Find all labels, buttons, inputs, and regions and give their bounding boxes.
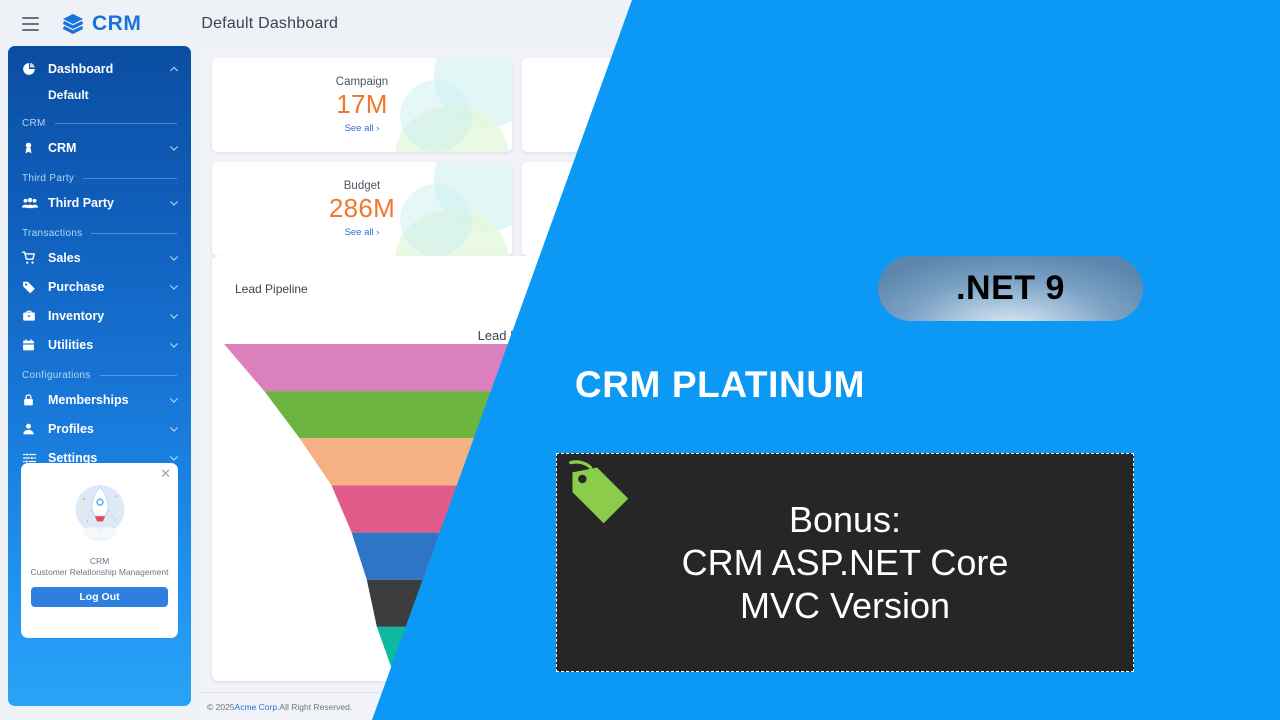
kpi-card-hidden-2[interactable] — [522, 162, 822, 256]
sidebar-promo-card: ✕ CRM Customer Relationship Management L… — [21, 463, 178, 638]
promo-title: CRM — [90, 556, 109, 566]
user-badge-icon — [22, 141, 41, 155]
close-icon[interactable]: ✕ — [160, 467, 171, 480]
kpi-card-hidden-1[interactable] — [522, 58, 822, 152]
sidebar-item-label: Memberships — [48, 393, 169, 407]
kpi-label: Budget — [329, 180, 395, 192]
funnel-segment[interactable] — [377, 627, 441, 674]
sidebar-subitem-label: Default — [48, 88, 89, 102]
kpi-card-budget[interactable]: Budget 286M See all › — [212, 162, 512, 256]
hamburger-icon[interactable] — [17, 11, 43, 37]
person-icon — [22, 422, 41, 436]
sidebar-item-utilities[interactable]: Utilities — [8, 330, 191, 359]
sidebar-item-memberships[interactable]: Memberships — [8, 385, 191, 414]
promo-subtitle: Customer Relationship Management — [31, 567, 169, 578]
chevron-up-icon — [169, 64, 179, 74]
chevron-down-icon — [169, 395, 179, 405]
sidebar-item-label: Sales — [48, 251, 169, 265]
kpi-label: Campaign — [336, 76, 388, 88]
crm-application: CRM Default Dashboard Dashboard Default … — [0, 0, 1280, 720]
chevron-down-icon — [169, 143, 179, 153]
sidebar-item-crm[interactable]: CRM — [8, 133, 191, 162]
funnel-chart[interactable] — [212, 344, 822, 674]
kpi-value: 17M — [336, 89, 388, 120]
sidebar: Dashboard Default CRM CRM — [8, 46, 191, 706]
brand[interactable]: CRM — [61, 12, 141, 36]
divider — [83, 178, 177, 179]
sidebar-item-dashboard[interactable]: Dashboard — [8, 54, 191, 83]
sidebar-item-sales[interactable]: Sales — [8, 243, 191, 272]
chevron-down-icon — [169, 253, 179, 263]
funnel-segment[interactable] — [332, 485, 487, 532]
footer-suffix: All Right Reserved. — [279, 702, 352, 712]
sidebar-section-label: Configurations — [22, 370, 91, 381]
chevron-down-icon — [169, 282, 179, 292]
kpi-column-2 — [522, 58, 822, 256]
funnel-segment[interactable] — [264, 391, 553, 438]
sidebar-section-transactions: Transactions — [8, 228, 191, 239]
divider — [55, 123, 177, 124]
chart-title: Lead Pipeline — [212, 328, 822, 343]
funnel-segment[interactable] — [352, 533, 467, 580]
footer-company-link[interactable]: Acme Corp. — [235, 702, 280, 712]
sidebar-item-third-party[interactable]: Third Party — [8, 188, 191, 217]
funnel-segment[interactable] — [300, 438, 519, 485]
sidebar-section-label: Third Party — [22, 173, 74, 184]
sidebar-item-label: Purchase — [48, 280, 169, 294]
sidebar-item-label: Utilities — [48, 338, 169, 352]
sidebar-item-inventory[interactable]: Inventory — [8, 301, 191, 330]
sidebar-item-label: Profiles — [48, 422, 169, 436]
chevron-down-icon — [169, 424, 179, 434]
kpi-card-campaign[interactable]: Campaign 17M See all › — [212, 58, 512, 152]
funnel-segment[interactable] — [224, 344, 594, 391]
sidebar-section-third-party: Third Party — [8, 173, 191, 184]
sidebar-item-profiles[interactable]: Profiles — [8, 414, 191, 443]
chart-card-title: Lead Pipeline — [235, 282, 308, 296]
people-group-icon — [22, 196, 41, 210]
kpi-column-1: Campaign 17M See all › Budget 286M See a… — [212, 58, 512, 256]
chevron-down-icon — [169, 340, 179, 350]
sidebar-section-configurations: Configurations — [8, 370, 191, 381]
shopping-cart-icon — [22, 251, 41, 265]
see-all-link[interactable]: See all › — [329, 227, 395, 238]
logout-button[interactable]: Log Out — [31, 587, 168, 607]
layers-icon — [61, 12, 85, 36]
divider — [100, 375, 177, 376]
decoration-blob — [400, 80, 472, 152]
sidebar-section-label: CRM — [22, 118, 46, 129]
chevron-down-icon — [169, 453, 179, 463]
chevron-down-icon — [169, 198, 179, 208]
sidebar-item-label: Third Party — [48, 196, 169, 210]
lead-pipeline-chart-card: Lead Pipeline Lead Pipeline — [212, 256, 822, 681]
tag-icon — [22, 280, 41, 294]
sidebar-item-label: Dashboard — [48, 62, 169, 76]
sidebar-item-label: Inventory — [48, 309, 169, 323]
top-bar: CRM Default Dashboard — [0, 0, 1280, 47]
decoration-blob — [400, 184, 472, 256]
footer-prefix: © 2025 — [207, 702, 235, 712]
sidebar-item-label: CRM — [48, 141, 169, 155]
briefcase-icon — [22, 309, 41, 323]
rocket-illustration — [63, 477, 137, 551]
footer: © 2025 Acme Corp. All Right Reserved. — [199, 692, 1280, 720]
main-content: Campaign 17M See all › Budget 286M See a… — [199, 47, 1280, 720]
sidebar-section-crm: CRM — [8, 118, 191, 129]
pie-chart-icon — [22, 62, 41, 76]
sidebar-item-purchase[interactable]: Purchase — [8, 272, 191, 301]
chevron-down-icon — [169, 311, 179, 321]
lock-icon — [22, 393, 41, 407]
sidebar-subitem-default[interactable]: Default — [8, 83, 191, 107]
funnel-segment[interactable] — [367, 580, 451, 627]
kpi-card-grid: Campaign 17M See all › Budget 286M See a… — [212, 58, 822, 256]
sidebar-section-label: Transactions — [22, 228, 82, 239]
divider — [91, 233, 177, 234]
kpi-value: 286M — [329, 193, 395, 224]
page-title: Default Dashboard — [201, 15, 338, 33]
calendar-icon — [22, 338, 41, 352]
brand-text: CRM — [92, 12, 141, 36]
see-all-link[interactable]: See all › — [336, 123, 388, 134]
